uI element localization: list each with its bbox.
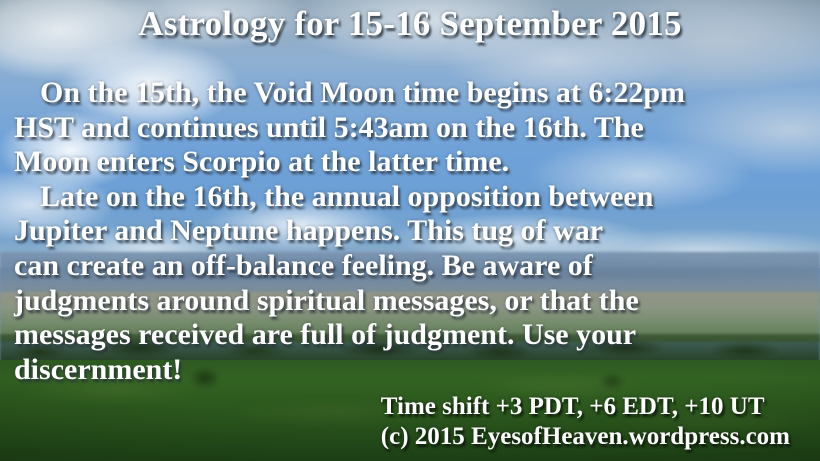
body-line: On the 15th, the Void Moon time begins a… [14,76,810,111]
copyright-note: (c) 2015 EyesofHeaven.wordpress.com [381,422,790,452]
body-line: can create an off-balance feeling. Be aw… [14,249,810,284]
body-line: discernment! [14,353,810,388]
footer-block: Time shift +3 PDT, +6 EDT, +10 UT (c) 20… [381,392,790,452]
page-title: Astrology for 15-16 September 2015 [0,4,820,44]
body-line: Jupiter and Neptune happens. This tug of… [14,214,810,249]
body-line: judgments around spiritual messages, or … [14,284,810,319]
body-line: HST and continues until 5:43am on the 16… [14,111,810,146]
body-text: On the 15th, the Void Moon time begins a… [14,76,810,387]
time-shift-note: Time shift +3 PDT, +6 EDT, +10 UT [381,392,790,422]
body-line: messages received are full of judgment. … [14,318,810,353]
text-overlay: Astrology for 15-16 September 2015 On th… [0,0,820,461]
body-line: Moon enters Scorpio at the latter time. [14,145,810,180]
body-line: Late on the 16th, the annual opposition … [14,180,810,215]
astrology-graphic: Astrology for 15-16 September 2015 On th… [0,0,820,461]
